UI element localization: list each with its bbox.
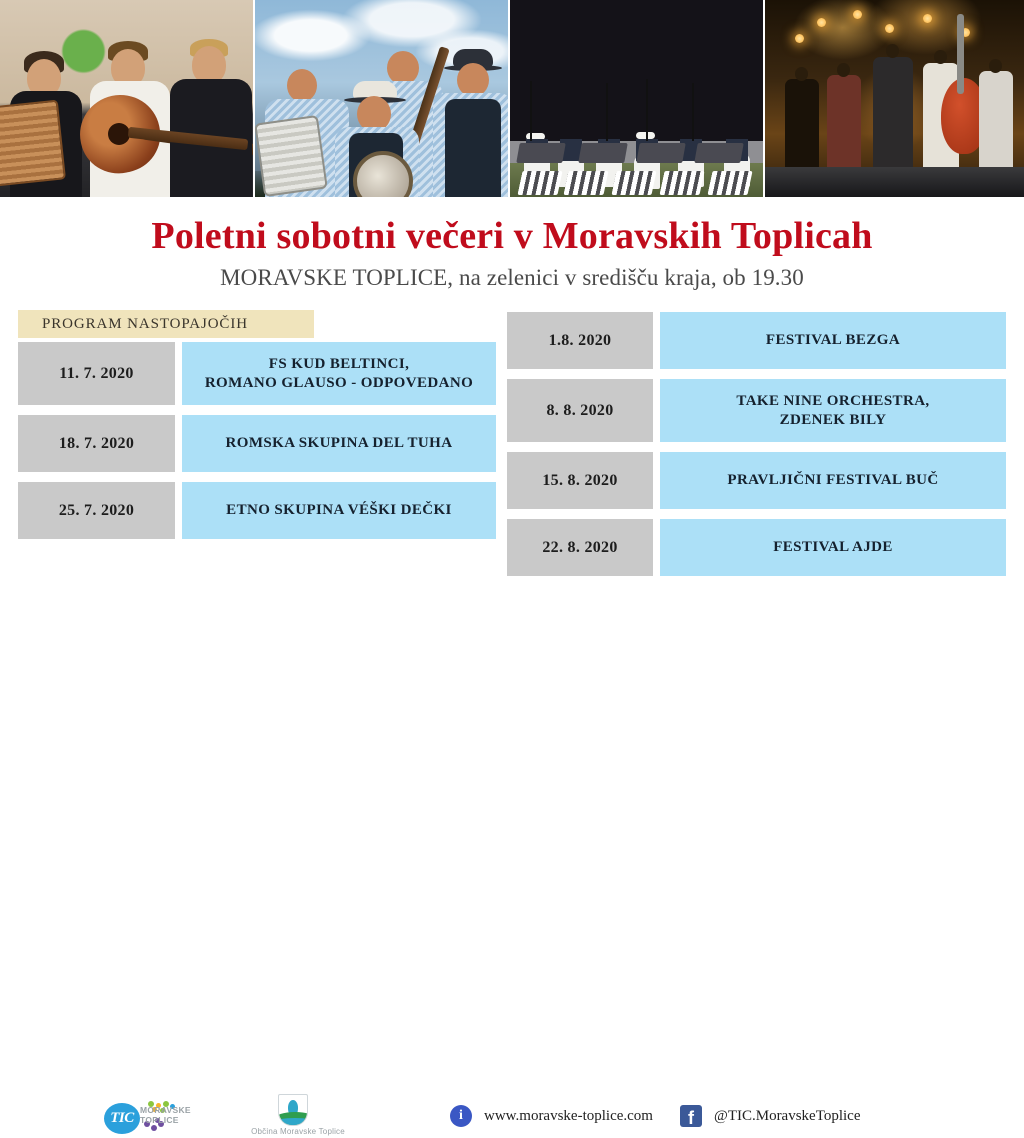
schedule-performer-july-1: ROMSKA SKUPINA DEL TUHA [182, 415, 496, 472]
program-header-badge: PROGRAM NASTOPAJOČIH [18, 310, 314, 338]
photo-three-young-musicians [0, 0, 253, 197]
program-header-label: PROGRAM NASTOPAJOČIH [18, 316, 248, 333]
title-area: Poletni sobotni večeri v Moravskih Topli… [0, 197, 1024, 291]
obcina-label: Občina Moravske Toplice [248, 1127, 348, 1136]
schedule-date-august-2: 15. 8. 2020 [507, 452, 653, 509]
photo-folk-quartet-sky [255, 0, 508, 197]
table-row: 15. 8. 2020PRAVLJIČNI FESTIVAL BUČ [507, 452, 1006, 509]
table-row: 1.8. 2020FESTIVAL BEZGA [507, 312, 1006, 369]
schedule-performer-july-0: FS KUD BELTINCI,ROMANO GLAUSO - ODPOVEDA… [182, 342, 496, 405]
website-url[interactable]: www.moravske-toplice.com [484, 1108, 653, 1125]
footer: TIC MORAVSKETOPLICE Občina Moravske Topl… [0, 545, 1024, 597]
table-row: 25. 7. 2020ETNO SKUPINA VÉŠKI DEČKI [18, 482, 496, 539]
table-row: 18. 7. 2020ROMSKA SKUPINA DEL TUHA [18, 415, 496, 472]
schedule-performer-july-2: ETNO SKUPINA VÉŠKI DEČKI [182, 482, 496, 539]
photo-strip [0, 0, 1024, 197]
schedule-date-july-2: 25. 7. 2020 [18, 482, 175, 539]
schedule-date-august-1: 8. 8. 2020 [507, 379, 653, 442]
info-icon: i [450, 1105, 472, 1127]
facebook-handle[interactable]: @TIC.MoravskeToplice [714, 1108, 860, 1125]
page-subtitle: MORAVSKE TOPLICE, na zelenici v središču… [0, 265, 1024, 291]
tic-logo-mark: TIC [110, 1110, 134, 1127]
photo-band-outdoor-stage [510, 0, 763, 197]
schedule-performer-august-0: FESTIVAL BEZGA [660, 312, 1006, 369]
schedule-table-july: 11. 7. 2020FS KUD BELTINCI,ROMANO GLAUSO… [18, 342, 496, 549]
table-row: 11. 7. 2020FS KUD BELTINCI,ROMANO GLAUSO… [18, 342, 496, 405]
page-title: Poletni sobotni večeri v Moravskih Topli… [0, 217, 1024, 257]
schedule-date-august-0: 1.8. 2020 [507, 312, 653, 369]
obcina-logo[interactable]: Občina Moravske Toplice [248, 1094, 348, 1138]
tic-logo-text: MORAVSKETOPLICE [140, 1106, 191, 1126]
tic-logo[interactable]: TIC MORAVSKETOPLICE [104, 1097, 196, 1137]
schedule-date-july-0: 11. 7. 2020 [18, 342, 175, 405]
tic-logo-circle: TIC [104, 1103, 140, 1134]
facebook-icon: f [680, 1105, 702, 1127]
schedule-date-july-1: 18. 7. 2020 [18, 415, 175, 472]
website-block[interactable]: i www.moravske-toplice.com [450, 1105, 653, 1127]
table-row: 8. 8. 2020TAKE NINE ORCHESTRA,ZDENEK BIL… [507, 379, 1006, 442]
obcina-crest-icon [278, 1094, 308, 1126]
schedule-performer-august-1: TAKE NINE ORCHESTRA,ZDENEK BILY [660, 379, 1006, 442]
facebook-glyph: f [688, 1109, 694, 1127]
schedule-performer-august-2: PRAVLJIČNI FESTIVAL BUČ [660, 452, 1006, 509]
info-glyph: i [459, 1108, 463, 1124]
facebook-block[interactable]: f @TIC.MoravskeToplice [680, 1105, 860, 1127]
photo-band-concert-lights [765, 0, 1024, 197]
